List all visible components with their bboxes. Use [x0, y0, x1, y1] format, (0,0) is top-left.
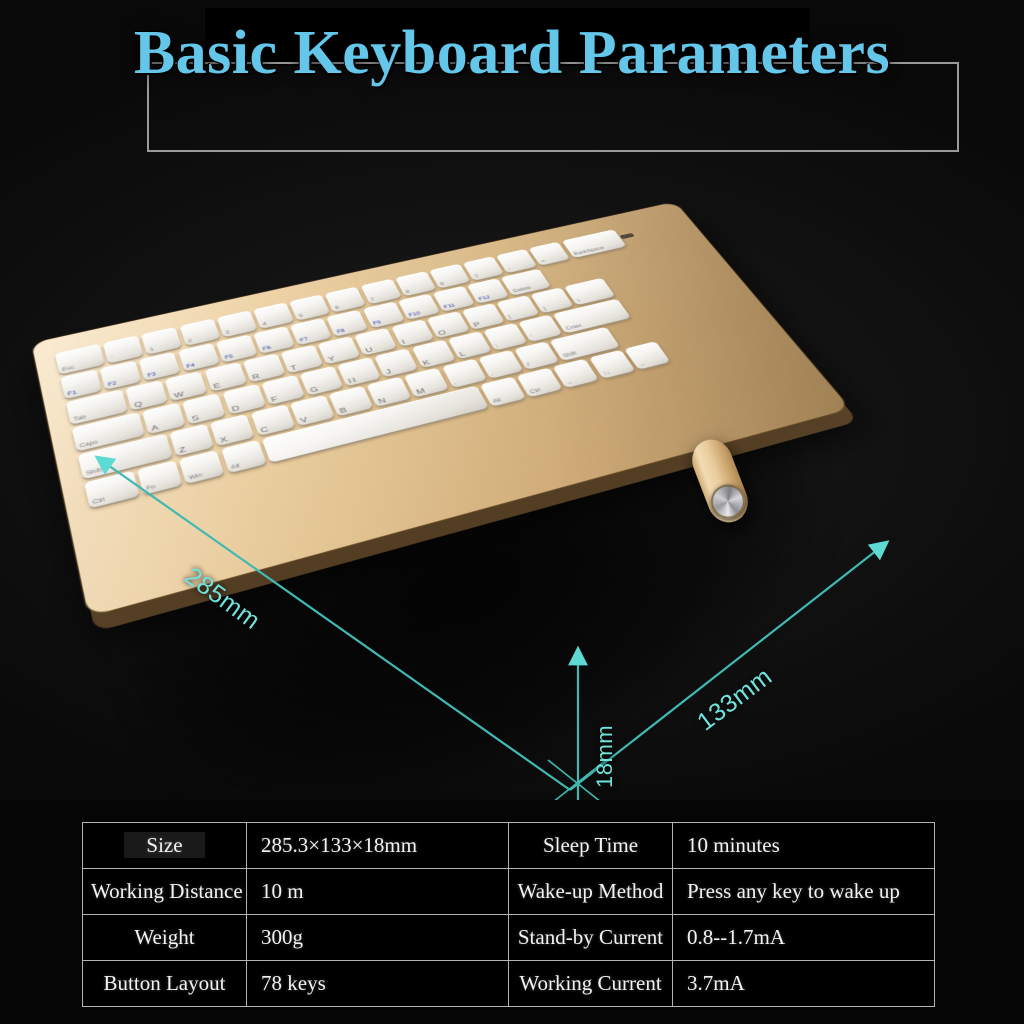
spec-value-left: 285.3×133×18mm	[247, 823, 509, 869]
spec-value-right: 10 minutes	[673, 823, 935, 869]
table-row: Size285.3×133×18mmSleep Time10 minutes	[83, 823, 935, 869]
dimension-annotations: 285mm 133mm 18mm	[0, 0, 1024, 800]
table-row: Working Distance10 mWake-up MethodPress …	[83, 869, 935, 915]
size-label-highlight: Size	[124, 832, 204, 858]
specification-panel: Size285.3×133×18mmSleep Time10 minutesWo…	[0, 800, 1024, 1024]
spec-value-right: 3.7mA	[673, 961, 935, 1007]
spec-label-left: Weight	[83, 915, 247, 961]
spec-label-left: Working Distance	[83, 869, 247, 915]
spec-label-left: Size	[83, 823, 247, 869]
table-row: Button Layout78 keysWorking Current3.7mA	[83, 961, 935, 1007]
hero-photo-panel: Basic Keyboard Parameters Esc`1234567890…	[0, 0, 1024, 800]
spec-value-left: 10 m	[247, 869, 509, 915]
spec-label-right: Sleep Time	[509, 823, 673, 869]
dimension-lines-svg	[0, 0, 1024, 800]
spec-label-right: Working Current	[509, 961, 673, 1007]
height-dimension-label: 18mm	[592, 725, 618, 788]
spec-value-right: 0.8--1.7mA	[673, 915, 935, 961]
page-title: Basic Keyboard Parameters	[0, 18, 1024, 89]
specification-table: Size285.3×133×18mmSleep Time10 minutesWo…	[82, 822, 935, 1007]
spec-value-right: Press any key to wake up	[673, 869, 935, 915]
specification-table-body: Size285.3×133×18mmSleep Time10 minutesWo…	[83, 823, 935, 1007]
spec-label-left: Button Layout	[83, 961, 247, 1007]
spec-label-right: Wake-up Method	[509, 869, 673, 915]
table-row: Weight300gStand-by Current0.8--1.7mA	[83, 915, 935, 961]
width-dimension-line	[98, 458, 570, 790]
spec-value-left: 300g	[247, 915, 509, 961]
spec-label-right: Stand-by Current	[509, 915, 673, 961]
spec-value-left: 78 keys	[247, 961, 509, 1007]
